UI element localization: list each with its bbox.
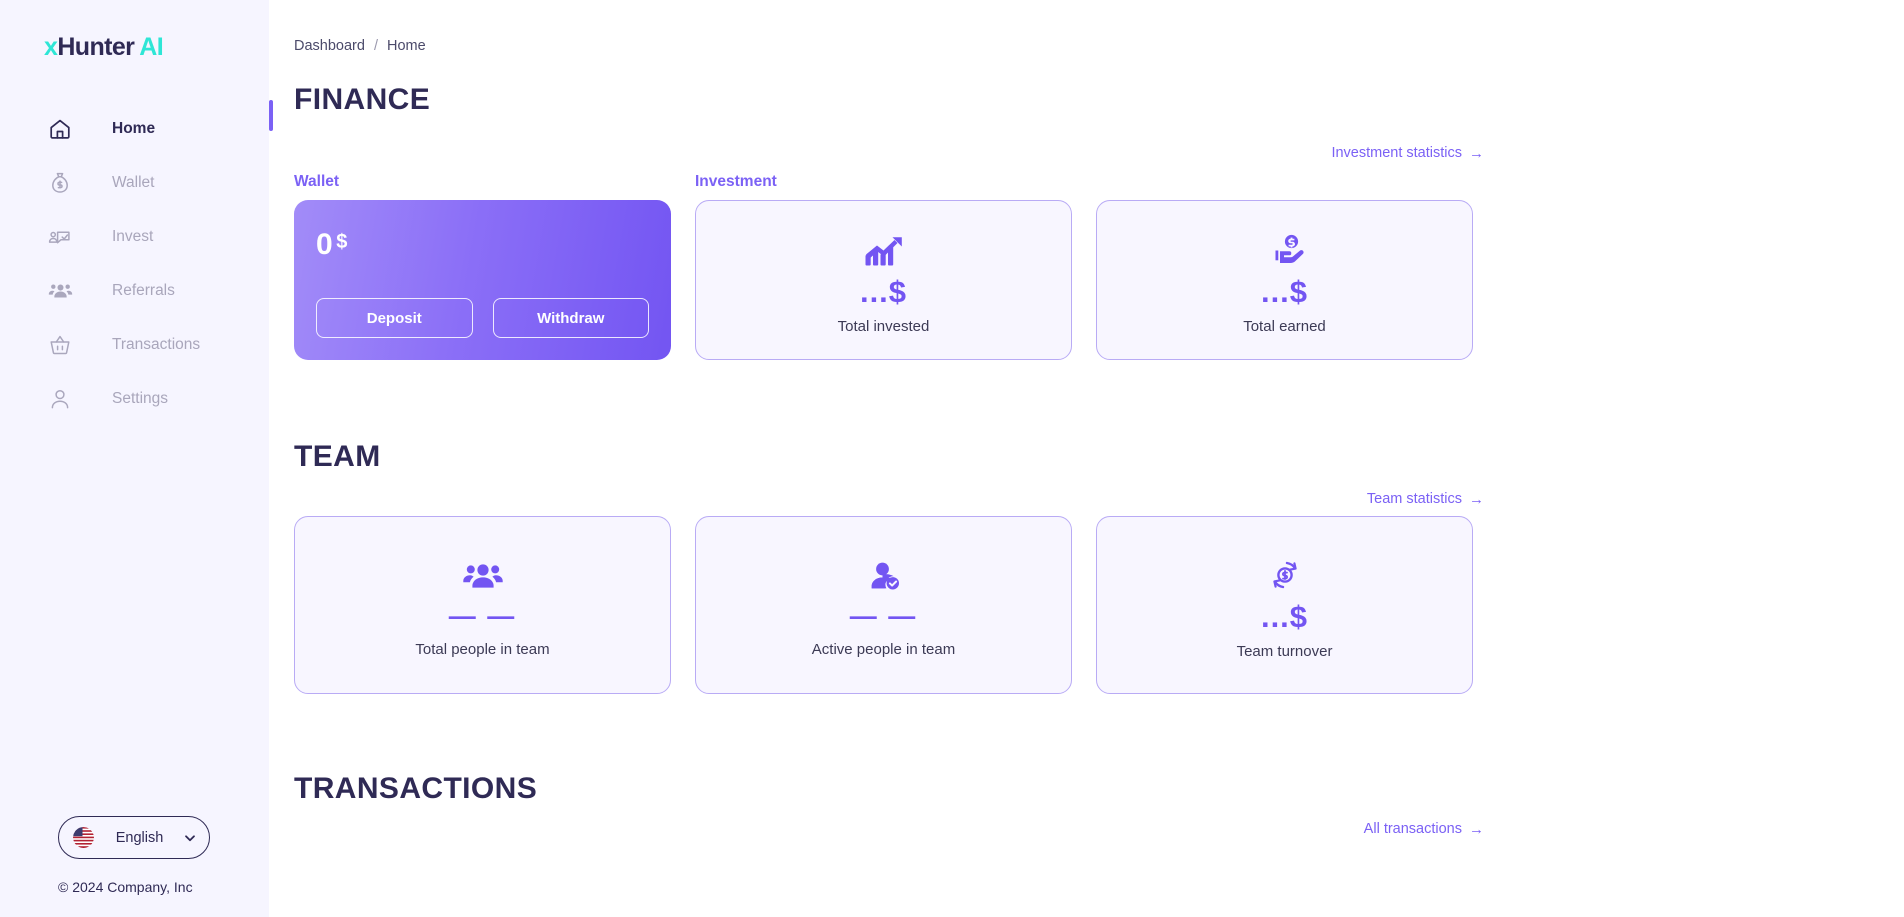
sidebar-item-home[interactable]: Home: [0, 102, 269, 156]
app-root: xHunterAI Home: [0, 0, 1904, 917]
total-invested-card[interactable]: ...$ Total invested: [695, 200, 1072, 360]
total-people-in-team-value: — —: [449, 603, 517, 630]
team-turnover-card[interactable]: ...$ Team turnover: [1096, 516, 1473, 694]
total-invested-value: ...$: [860, 276, 907, 307]
investment-statistics-row: Investment statistics →: [294, 145, 1484, 161]
home-icon: [47, 116, 73, 142]
sidebar-item-label: Invest: [112, 228, 153, 246]
arrow-right-icon: →: [1469, 146, 1484, 161]
people-group-icon: [47, 278, 73, 304]
sidebar-item-label: Transactions: [112, 336, 200, 354]
sidebar-item-settings[interactable]: Settings: [0, 372, 269, 426]
sidebar-item-transactions[interactable]: Transactions: [0, 318, 269, 372]
active-people-in-team-value: — —: [850, 603, 918, 630]
all-transactions-link[interactable]: All transactions →: [1364, 821, 1484, 837]
wallet-actions: Deposit Withdraw: [316, 298, 649, 338]
active-section-accent-bar: [269, 100, 273, 131]
active-people-in-team-card[interactable]: — — Active people in team: [695, 516, 1072, 694]
app-logo[interactable]: xHunterAI: [44, 35, 269, 60]
finance-cards: 0$ Deposit Withdraw: [294, 200, 1904, 360]
investment-statistics-link[interactable]: Investment statistics →: [1331, 145, 1484, 161]
arrow-right-icon: →: [1469, 492, 1484, 507]
withdraw-button[interactable]: Withdraw: [493, 298, 650, 338]
sidebar: xHunterAI Home: [0, 0, 269, 917]
total-invested-caption: Total invested: [838, 318, 930, 335]
chevron-down-icon: [183, 831, 197, 845]
sidebar-item-label: Wallet: [112, 174, 155, 192]
active-people-in-team-caption: Active people in team: [812, 641, 955, 658]
total-earned-caption: Total earned: [1243, 318, 1326, 335]
all-transactions-label: All transactions: [1364, 821, 1462, 837]
total-earned-card[interactable]: ...$ Total earned: [1096, 200, 1473, 360]
total-people-in-team-caption: Total people in team: [415, 641, 549, 658]
investment-label: Investment: [695, 173, 1096, 191]
sidebar-footer: English © 2024 Company, Inc: [0, 816, 269, 917]
hand-coin-icon: [1264, 226, 1306, 268]
breadcrumb-separator: /: [374, 38, 378, 54]
breadcrumb: Dashboard / Home: [294, 38, 1904, 54]
team-statistics-row: Team statistics →: [294, 491, 1484, 507]
finance-section-title: FINANCE: [294, 83, 1904, 117]
team-turnover-caption: Team turnover: [1237, 643, 1333, 660]
breadcrumb-home[interactable]: Home: [387, 38, 426, 54]
sidebar-item-label: Referrals: [112, 282, 175, 300]
total-people-in-team-card[interactable]: — — Total people in team: [294, 516, 671, 694]
team-section-title: TEAM: [294, 440, 1904, 474]
team-statistics-label: Team statistics: [1367, 491, 1462, 507]
arrow-right-icon: →: [1469, 822, 1484, 837]
language-label: English: [96, 830, 183, 846]
sidebar-item-wallet[interactable]: Wallet: [0, 156, 269, 210]
wallet-card: 0$ Deposit Withdraw: [294, 200, 671, 360]
main-content: Dashboard / Home FINANCE Investment stat…: [269, 0, 1904, 917]
all-transactions-row: All transactions →: [294, 821, 1484, 837]
user-icon: [47, 386, 73, 412]
wallet-balance: 0$: [316, 228, 649, 262]
team-turnover-value: ...$: [1261, 601, 1308, 632]
investment-statistics-label: Investment statistics: [1331, 145, 1462, 161]
wallet-label: Wallet: [294, 173, 695, 191]
logo-wordmark: Hunter: [57, 33, 134, 61]
team-statistics-link[interactable]: Team statistics →: [1367, 491, 1484, 507]
logo-ai-suffix: AI: [139, 33, 163, 61]
coin-refresh-icon: [1264, 551, 1306, 593]
basket-icon: [47, 332, 73, 358]
language-selector[interactable]: English: [58, 816, 210, 859]
finance-column-labels: Wallet Investment: [294, 173, 1904, 191]
breadcrumb-dashboard[interactable]: Dashboard: [294, 38, 365, 54]
sidebar-item-label: Home: [112, 120, 155, 138]
us-flag-icon: [73, 827, 94, 848]
people-group-icon: [462, 553, 504, 595]
sidebar-item-label: Settings: [112, 390, 168, 408]
transactions-section-title: TRANSACTIONS: [294, 772, 1904, 806]
logo-x-mark: x: [44, 33, 57, 61]
money-bag-icon: [47, 170, 73, 196]
deposit-button[interactable]: Deposit: [316, 298, 473, 338]
invest-chat-icon: [47, 224, 73, 250]
copyright-text: © 2024 Company, Inc: [58, 879, 269, 895]
sidebar-nav: Home Wallet: [0, 102, 269, 426]
team-cards: — — Total people in team — —: [294, 516, 1904, 694]
sidebar-item-referrals[interactable]: Referrals: [0, 264, 269, 318]
wallet-balance-amount: 0: [316, 228, 333, 261]
wallet-balance-currency: $: [336, 231, 348, 253]
total-earned-value: ...$: [1261, 276, 1308, 307]
sidebar-item-invest[interactable]: Invest: [0, 210, 269, 264]
user-check-icon: [863, 553, 905, 595]
chart-growth-icon: [863, 226, 905, 268]
